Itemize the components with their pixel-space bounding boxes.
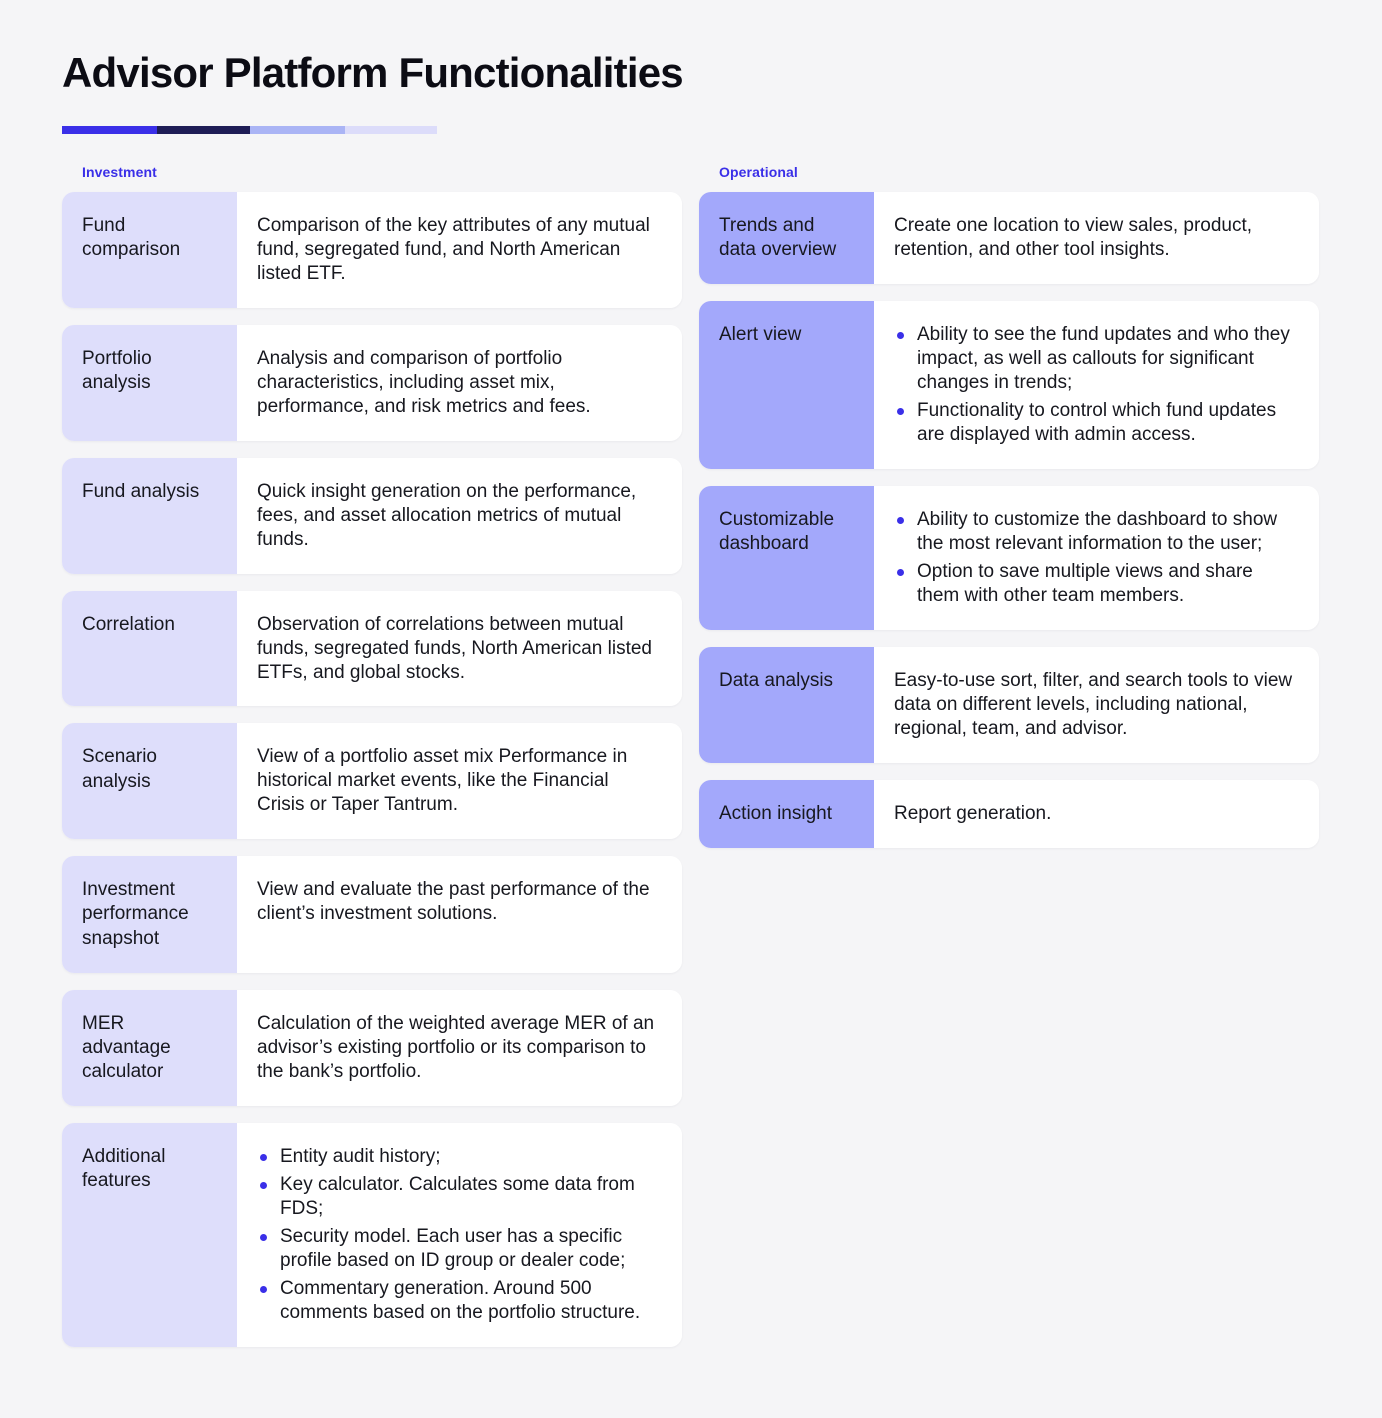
card-portfolio-analysis[interactable]: Portfolio analysis Analysis and comparis… [62,325,682,441]
infographic-page: Advisor Platform Functionalities Investm… [0,0,1382,1418]
card-body-text: Calculation of the weighted average MER … [257,1012,660,1084]
column-investment: Investment Fund comparison Comparison of… [62,164,682,1363]
card-body-text: Create one location to view sales, produ… [894,214,1297,262]
bullet-list: Ability to customize the dashboard to sh… [894,508,1297,608]
card-body-text: Observation of correlations between mutu… [257,613,660,685]
column-operational: Operational Trends and data overview Cre… [699,164,1319,865]
card-additional-features[interactable]: Additional features Entity audit history… [62,1123,682,1347]
card-label: Scenario analysis [62,723,237,839]
card-body: Ability to customize the dashboard to sh… [874,486,1319,630]
card-body: Analysis and comparison of portfolio cha… [237,325,682,441]
card-body-text: Comparison of the key attributes of any … [257,214,660,286]
card-trends-and-data-overview[interactable]: Trends and data overview Create one loca… [699,192,1319,284]
card-mer-advantage-calculator[interactable]: MER advantage calculator Calculation of … [62,990,682,1106]
card-label: Investment performance snapshot [62,856,237,972]
accent-bar [62,126,437,134]
card-label: Alert view [699,301,874,469]
page-title: Advisor Platform Functionalities [62,50,1322,96]
bullet-item: Functionality to control which fund upda… [894,399,1297,447]
card-action-insight[interactable]: Action insight Report generation. [699,780,1319,848]
card-label: Trends and data overview [699,192,874,284]
card-body: View and evaluate the past performance o… [237,856,682,972]
card-body: Quick insight generation on the performa… [237,458,682,574]
card-fund-analysis[interactable]: Fund analysis Quick insight generation o… [62,458,682,574]
card-body: Comparison of the key attributes of any … [237,192,682,308]
card-data-analysis[interactable]: Data analysis Easy-to-use sort, filter, … [699,647,1319,763]
accent-segment-2 [157,126,250,134]
card-body: Easy-to-use sort, filter, and search too… [874,647,1319,763]
card-customizable-dashboard[interactable]: Customizable dashboard Ability to custom… [699,486,1319,630]
card-body-text: Quick insight generation on the performa… [257,480,660,552]
card-body-text: View of a portfolio asset mix Performanc… [257,745,660,817]
card-body-text: Easy-to-use sort, filter, and search too… [894,669,1297,741]
card-label: MER advantage calculator [62,990,237,1106]
card-label: Additional features [62,1123,237,1347]
card-correlation[interactable]: Correlation Observation of correlations … [62,591,682,707]
bullet-item: Ability to customize the dashboard to sh… [894,508,1297,556]
bullet-list: Ability to see the fund updates and who … [894,323,1297,447]
bullet-item: Option to save multiple views and share … [894,560,1297,608]
card-body: View of a portfolio asset mix Performanc… [237,723,682,839]
card-body: Entity audit history;Key calculator. Cal… [237,1123,682,1347]
card-label: Portfolio analysis [62,325,237,441]
card-investment-performance-snapshot[interactable]: Investment performance snapshot View and… [62,856,682,972]
card-fund-comparison[interactable]: Fund comparison Comparison of the key at… [62,192,682,308]
card-label: Fund analysis [62,458,237,574]
card-label: Fund comparison [62,192,237,308]
card-body-text: View and evaluate the past performance o… [257,878,660,926]
card-label: Action insight [699,780,874,848]
column-title-operational: Operational [719,164,1319,180]
card-label: Correlation [62,591,237,707]
bullet-item: Ability to see the fund updates and who … [894,323,1297,395]
card-alert-view[interactable]: Alert view Ability to see the fund updat… [699,301,1319,469]
bullet-list: Entity audit history;Key calculator. Cal… [257,1145,660,1325]
card-body-text: Report generation. [894,802,1297,826]
accent-segment-4 [345,126,437,134]
card-label: Data analysis [699,647,874,763]
card-scenario-analysis[interactable]: Scenario analysis View of a portfolio as… [62,723,682,839]
bullet-item: Key calculator. Calculates some data fro… [257,1173,660,1221]
card-body: Create one location to view sales, produ… [874,192,1319,284]
accent-segment-1 [62,126,157,134]
card-body: Ability to see the fund updates and who … [874,301,1319,469]
bullet-item: Security model. Each user has a specific… [257,1225,660,1273]
column-title-investment: Investment [82,164,682,180]
card-body: Calculation of the weighted average MER … [237,990,682,1106]
columns-container: Investment Fund comparison Comparison of… [62,164,1322,1363]
card-body-text: Analysis and comparison of portfolio cha… [257,347,660,419]
card-body: Observation of correlations between mutu… [237,591,682,707]
card-body: Report generation. [874,780,1319,848]
bullet-item: Entity audit history; [257,1145,660,1169]
accent-segment-3 [250,126,345,134]
card-label: Customizable dashboard [699,486,874,630]
bullet-item: Commentary generation. Around 500 commen… [257,1277,660,1325]
